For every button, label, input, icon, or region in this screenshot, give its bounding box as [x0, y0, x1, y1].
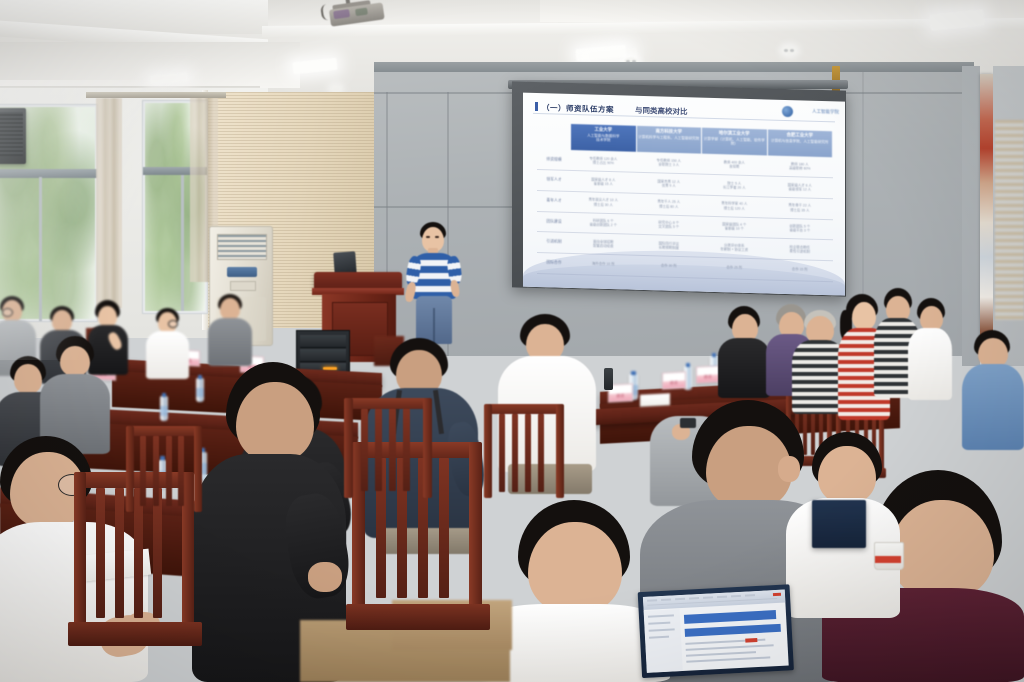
slide-table-cell: 创新团队 5 个 省级平台 3 个 — [768, 217, 833, 239]
slide-content: （一）师资队伍方案 与同类高校对比 人工智能学院 工业大学人工智能与数据科学 技… — [523, 93, 845, 296]
slide-table-cell: 研究中心 8 个 交叉团队 5 个 — [637, 214, 702, 236]
slide-table-row-label: 领军人才 — [537, 170, 571, 192]
wall-speaker — [0, 108, 26, 164]
slide-table-cell: 国家级人才 8 人 省部级 15 人 — [571, 171, 636, 193]
chair[interactable] — [344, 398, 432, 528]
name-card: 姓名 — [662, 371, 686, 389]
wall-poster-strip — [980, 74, 993, 360]
water-bottle — [160, 396, 168, 421]
slide-table-cell: 青年千人 25 人 博士后 80 人 — [637, 193, 702, 215]
slide-table-row-label: 国际合作 — [537, 252, 571, 274]
slide-table-cell: 面向全球招聘 配套启动经费 — [571, 233, 636, 255]
slide-table-cell: 青年骨干 22 人 博士后 35 人 — [768, 197, 833, 219]
presenter — [406, 222, 464, 344]
conference-room-photo: （一）师资队伍方案 与同类高校对比 人工智能学院 工业大学人工智能与数据科学 技… — [0, 0, 1024, 682]
slide-table-col-header: 哈尔滨工业大学计算学部（计算机、人工智能、软件学院） — [702, 128, 767, 156]
slide-table-cell: 青年拔尖人才 10 人 博士后 30 人 — [571, 191, 636, 213]
wall-seam-h2 — [374, 206, 534, 208]
slide-table-col-header: 南方科技大学计算机科学与工程系、人工智能研究院 — [637, 126, 702, 154]
slide-table-cell: 国家级团队 4 个 省部级 10 个 — [702, 216, 767, 238]
slide-table-row-label: 团队建设 — [537, 211, 571, 233]
thermos-bottle — [604, 368, 613, 390]
laptop-secondary — [812, 500, 868, 550]
attendee — [908, 298, 954, 400]
slide-table-cell: 海外合作 10 所 — [571, 253, 636, 275]
ac-vent-louvers — [217, 234, 267, 260]
slide-table-cell: 院士 5 人 长江学者 20 人 — [702, 174, 767, 196]
slide-table-cell: 专任教师 120 余人 博士占比 90% — [571, 150, 636, 172]
chair[interactable] — [126, 426, 202, 536]
slide-table-cell: 科研团队 6 个 省级创新团队 2 个 — [571, 212, 636, 234]
ac-sub-panel — [230, 281, 256, 291]
slide-table-cell: 青年科学家 40 人 博士后 120 人 — [702, 195, 767, 217]
slide-table-cell: 国际同行评议 长聘预聘制度 — [637, 234, 702, 256]
slide-table-cell: 国家杰青 12 人 优青 9 人 — [637, 172, 702, 194]
attendee — [962, 330, 1024, 450]
slide-logo-icon — [782, 106, 793, 117]
laptop-screen-ui[interactable] — [643, 590, 789, 673]
slide-table-cell: 分类评价体系 年薪制 + 协议工资 — [702, 236, 767, 258]
slide-table-cell: 教师 400 余人 含双聘 — [702, 154, 767, 176]
wall-header-rail — [374, 62, 974, 72]
slide-table-cell: 合作 25 所 — [702, 257, 767, 279]
coffee-cup — [874, 542, 902, 568]
slide-table-cell: 合作 30 所 — [637, 255, 702, 277]
ceiling-downlight-3 — [782, 46, 797, 55]
slide-logo-text: 人工智能学院 — [812, 109, 839, 116]
attendee — [718, 306, 772, 398]
slide-title-bar — [535, 102, 538, 111]
slide-table-cell: 教师 180 人 高级职称 60% — [768, 155, 833, 177]
slide-table: 工业大学人工智能与数据科学 技术学院南方科技大学计算机科学与工程系、人工智能研究… — [537, 123, 833, 281]
laptop-foreground[interactable] — [638, 584, 803, 682]
curtain-left-folds — [96, 98, 122, 308]
slide-table-row-label: 师资规模 — [537, 149, 571, 171]
slide-table-row-label: 青年人才 — [537, 190, 571, 212]
slide-table-cell: 专任教师 150 人 全职院士 3 人 — [637, 152, 702, 174]
slide-table-cell: 合作 15 所 — [768, 259, 833, 281]
slide-table-cell: 校企联合聘任 柔性引进机制 — [768, 238, 833, 260]
attendee — [208, 294, 254, 366]
slide-table-row-label: 引进机制 — [537, 232, 571, 254]
projection-screen[interactable]: （一）师资队伍方案 与同类高校对比 人工智能学院 工业大学人工智能与数据科学 技… — [512, 81, 846, 296]
ac-display-panel — [227, 267, 257, 277]
slide-table-col-header: 合肥工业大学计算机与信息学院、人工智能研究所 — [768, 129, 833, 157]
name-card: 姓名 — [696, 365, 720, 383]
wall-right — [962, 66, 980, 366]
attendee — [146, 308, 190, 378]
slide-table-col-header: 工业大学人工智能与数据科学 技术学院 — [571, 124, 636, 152]
chair[interactable] — [484, 404, 564, 524]
curtain-rod — [86, 92, 226, 98]
wall-far-right-blinds — [995, 120, 1024, 320]
slide-table-cell: 国家级人才 6 人 省级领军 12 人 — [768, 176, 833, 198]
